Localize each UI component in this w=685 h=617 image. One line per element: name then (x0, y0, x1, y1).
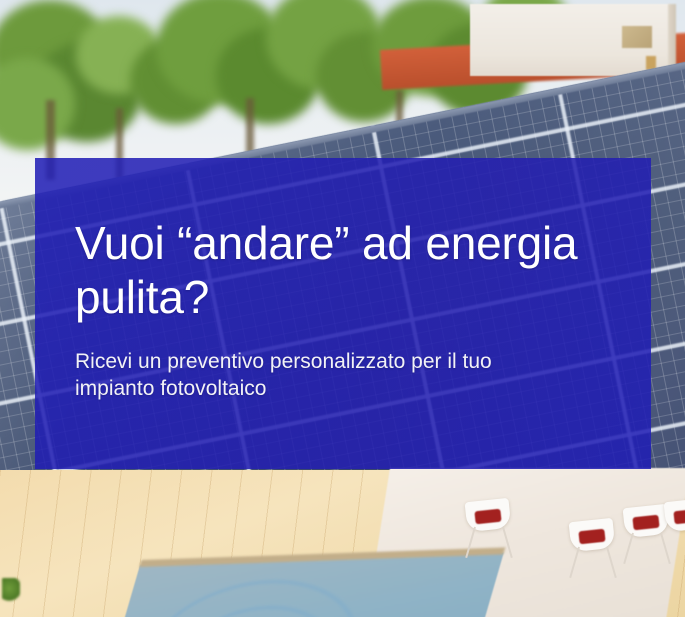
deck-plant (2, 578, 20, 604)
building-window (622, 26, 652, 48)
parapet-building (470, 4, 670, 76)
hero-banner: Vuoi “andare” ad energia pulita? Ricevi … (0, 0, 685, 617)
swimming-pool (91, 552, 504, 617)
hero-subtitle: Ricevi un preventivo personalizzato per … (75, 348, 621, 402)
hero-overlay-panel: Vuoi “andare” ad energia pulita? Ricevi … (35, 158, 651, 469)
hero-copy: Vuoi “andare” ad energia pulita? Ricevi … (75, 216, 621, 402)
hero-title: Vuoi “andare” ad energia pulita? (75, 216, 621, 324)
